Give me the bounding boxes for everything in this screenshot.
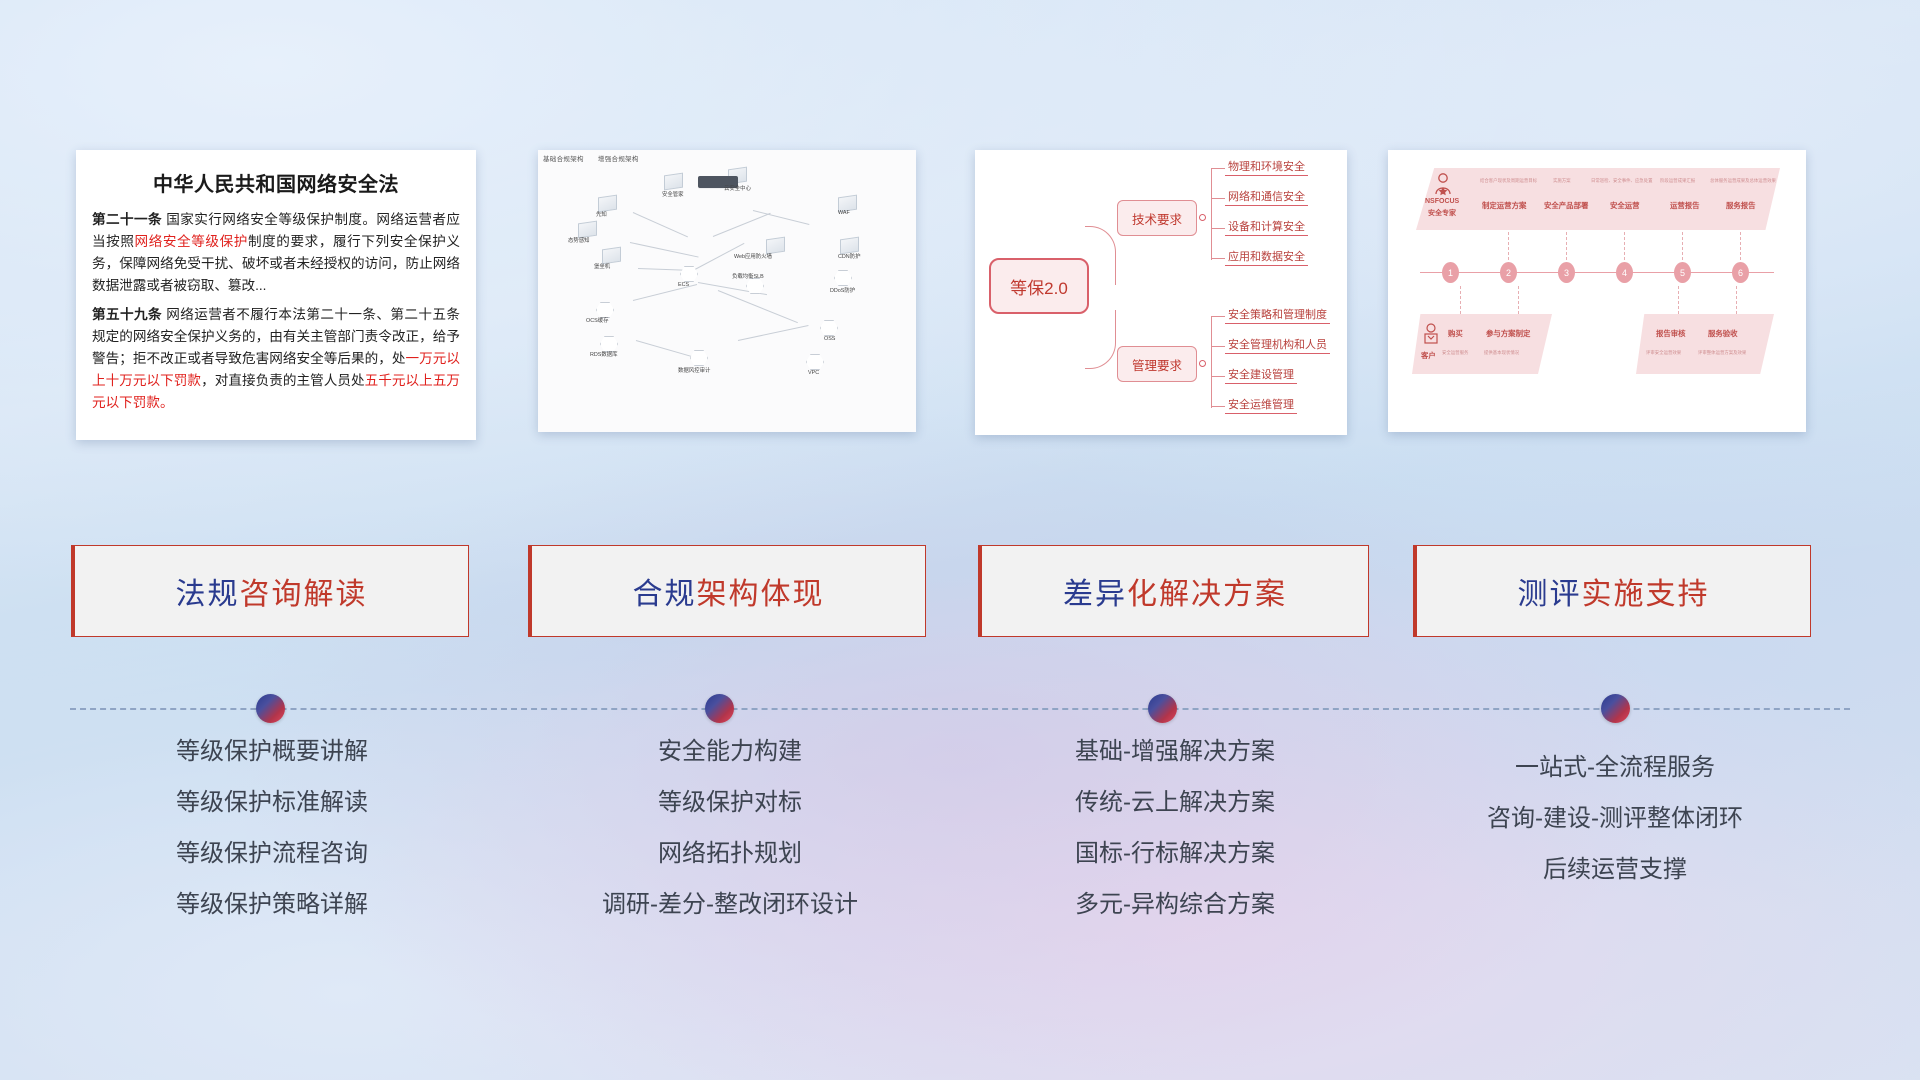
banner-label: 测评实施支持 <box>1518 569 1710 613</box>
mindmap-tick <box>1211 316 1225 317</box>
architecture-label: 云安全中心 <box>724 184 751 192</box>
banner-label-red: 化解决方案 <box>1127 578 1287 611</box>
mindmap-spine <box>1211 168 1212 260</box>
architecture-label: RDS数据库 <box>590 350 618 358</box>
list-item: 多元-异构综合方案 <box>965 893 1385 917</box>
architecture-label: ECS <box>678 282 689 288</box>
architecture-header-enhanced: 增强合规架构 <box>598 156 639 163</box>
mindmap-branch-management: 管理要求 <box>1117 346 1197 382</box>
mindmap-leaf: 网络和通信安全 <box>1225 188 1308 206</box>
timeline-top-sub: 结合客户现状及周期运营目标 <box>1480 178 1537 184</box>
list-item: 一站式-全流程服务 <box>1400 756 1830 780</box>
architecture-header-basic: 基础合规架构 <box>543 156 584 163</box>
architecture-icon-hex <box>806 354 824 370</box>
architecture-label: CDN防护 <box>838 252 860 260</box>
mindmap-leaf: 安全管理机构和人员 <box>1225 336 1330 354</box>
architecture-link <box>718 290 798 323</box>
timeline-step-number: 5 <box>1674 262 1691 283</box>
architecture-label: 数据风控审计 <box>678 366 710 374</box>
mindmap-tick <box>1211 376 1225 377</box>
architecture-label: Web应用防火墙 <box>734 252 772 260</box>
law-paragraph-1: 第二十一条 国家实行网络安全等级保护制度。网络运营者应当按照网络安全等级保护制度… <box>92 209 460 297</box>
timeline-dash <box>1624 232 1626 260</box>
list-item: 国标-行标解决方案 <box>965 842 1385 866</box>
list-item: 基础-增强解决方案 <box>965 740 1385 764</box>
list-item: 传统-云上解决方案 <box>965 791 1385 815</box>
law-title: 中华人民共和国网络安全法 <box>92 168 460 197</box>
banner-label: 法规咨询解读 <box>176 569 368 613</box>
timeline-step-number: 3 <box>1558 262 1575 283</box>
banner-label: 合规架构体现 <box>633 569 825 613</box>
timeline-top-title: 运营报告 <box>1670 200 1700 211</box>
list-item: 调研-差分-整改闭环设计 <box>520 893 940 917</box>
timeline-knob-1[interactable] <box>256 694 285 723</box>
banner-label: 差异化解决方案 <box>1063 569 1287 613</box>
timeline-top-title: 制定运营方案 <box>1482 200 1526 211</box>
mindmap-tick <box>1211 346 1225 347</box>
timeline-step-number: 4 <box>1616 262 1633 283</box>
banner-compliance-architecture[interactable]: 合规架构体现 <box>531 545 926 637</box>
timeline-step-number: 2 <box>1500 262 1517 283</box>
timeline-canvas: NSFOCUS 安全专家 结合客户现状及周期运营目标 制定运营方案 实施方案 安… <box>1388 150 1806 432</box>
customer-avatar-icon <box>1422 322 1440 348</box>
banner-label-red: 咨询解读 <box>240 578 368 611</box>
banner-label-blue: 差异 <box>1063 578 1127 611</box>
architecture-icon-hex <box>820 320 838 336</box>
banner-evaluation-support[interactable]: 测评实施支持 <box>1416 545 1811 637</box>
reference-cards-row: 中华人民共和国网络安全法 第二十一条 国家实行网络安全等级保护制度。网络运营者应… <box>0 150 1920 450</box>
mindmap-tick <box>1211 228 1225 229</box>
expert-avatar-icon <box>1432 172 1454 196</box>
architecture-label: DDoS防护 <box>830 286 855 294</box>
timeline-bottom-title: 服务验收 <box>1708 328 1738 339</box>
mindmap-leaf: 安全建设管理 <box>1225 366 1297 384</box>
mindmap-tick <box>1211 406 1225 407</box>
timeline-bottom-title: 购买 <box>1448 328 1463 339</box>
law-text-1b-highlight: 网络安全等级保护 <box>135 234 248 249</box>
card-mindmap[interactable]: 等保2.0 技术要求 管理要求 物理和环境安全 网络和通信安全 设备和计算安全 … <box>975 150 1347 435</box>
banner-row: 法规咨询解读 合规架构体现 差异化解决方案 测评实施支持 <box>0 545 1920 645</box>
list-item: 等级保护策略详解 <box>62 893 482 917</box>
list-item: 等级保护流程咨询 <box>62 842 482 866</box>
mindmap-connector <box>1085 310 1116 369</box>
banner-regulation-consulting[interactable]: 法规咨询解读 <box>74 545 469 637</box>
list-item: 咨询-建设-测评整体闭环 <box>1400 807 1830 831</box>
law-text-2c: ，对直接负责的主管人员处 <box>201 373 365 388</box>
banner-differentiated-solution[interactable]: 差异化解决方案 <box>981 545 1369 637</box>
timeline-dash <box>1566 232 1568 260</box>
law-body: 中华人民共和国网络安全法 第二十一条 国家实行网络安全等级保护制度。网络运营者应… <box>76 150 476 440</box>
process-timeline <box>0 694 1920 724</box>
timeline-top-sub: 阶段运营成果汇报 <box>1660 178 1695 184</box>
architecture-icon-box <box>664 173 683 191</box>
timeline-step-number: 6 <box>1732 262 1749 283</box>
architecture-label: 负载均衡SLB <box>732 272 764 280</box>
mindmap-tick <box>1211 258 1225 259</box>
timeline-dash <box>1740 232 1742 260</box>
mindmap-leaf: 物理和环境安全 <box>1225 158 1308 176</box>
timeline-top-sub: 实施方案 <box>1553 178 1571 184</box>
architecture-label: 先知 <box>596 210 607 218</box>
mindmap-leaf: 安全策略和管理制度 <box>1225 306 1330 324</box>
timeline-top-title: 服务报告 <box>1726 200 1756 211</box>
detail-column-4: 一站式-全流程服务 咨询-建设-测评整体闭环 后续运营支撑 <box>1400 756 1830 909</box>
architecture-link <box>633 212 688 237</box>
timeline-top-sub: 日常巡检、安全事件、应急处置 <box>1591 178 1652 184</box>
mindmap-leaf: 应用和数据安全 <box>1225 248 1308 266</box>
architecture-link <box>713 213 771 237</box>
timeline-top-title: 安全运营 <box>1610 200 1640 211</box>
list-item: 等级保护概要讲解 <box>62 740 482 764</box>
list-item: 等级保护对标 <box>520 791 940 815</box>
timeline-dash <box>1518 286 1520 314</box>
architecture-label: WAF <box>838 210 850 216</box>
law-article-label-1: 第二十一条 <box>92 212 162 227</box>
timeline-bottom-title: 参与方案制定 <box>1486 328 1530 339</box>
mindmap-root-node: 等保2.0 <box>989 258 1089 314</box>
law-article-label-2: 第五十九条 <box>92 307 162 322</box>
timeline-bottom-sub: 评审安全运营效果 <box>1646 350 1681 356</box>
architecture-link <box>753 210 810 225</box>
banner-label-blue: 合规 <box>633 578 697 611</box>
architecture-label: 堡垒机 <box>594 262 610 270</box>
detail-columns: 等级保护概要讲解 等级保护标准解读 等级保护流程咨询 等级保护策略详解 安全能力… <box>0 740 1920 990</box>
law-paragraph-2: 第五十九条 网络运营者不履行本法第二十一条、第二十五条规定的网络安全保护义务的，… <box>92 304 460 414</box>
timeline-dash <box>1678 286 1680 314</box>
mindmap-connector <box>1085 226 1116 285</box>
timeline-knob-4[interactable] <box>1601 694 1630 723</box>
architecture-label: OSS <box>824 336 835 342</box>
architecture-canvas: 基础合规架构 增强合规架构 <box>538 150 916 432</box>
mindmap-spine <box>1211 316 1212 408</box>
timeline-expert-label-line2: 安全专家 <box>1428 208 1456 218</box>
banner-label-blue: 法规 <box>176 578 240 611</box>
list-item: 后续运营支撑 <box>1400 858 1830 882</box>
timeline-customer-label: 客户 <box>1421 350 1436 361</box>
mindmap-branch-technical: 技术要求 <box>1117 200 1197 236</box>
timeline-dash <box>1682 232 1684 260</box>
timeline-step-number: 1 <box>1442 262 1459 283</box>
architecture-label: VPC <box>808 370 819 376</box>
timeline-bottom-sub: 评审整体运营方案及效果 <box>1698 350 1746 356</box>
timeline-knob-3[interactable] <box>1148 694 1177 723</box>
list-item: 网络拓扑规划 <box>520 842 940 866</box>
list-item: 等级保护标准解读 <box>62 791 482 815</box>
timeline-knob-2[interactable] <box>705 694 734 723</box>
mindmap-tick <box>1211 198 1225 199</box>
architecture-icon-hex <box>834 270 852 286</box>
card-law-document[interactable]: 中华人民共和国网络安全法 第二十一条 国家实行网络安全等级保护制度。网络运营者应… <box>76 150 476 440</box>
timeline-dash <box>1736 286 1738 314</box>
mindmap-leaf: 设备和计算安全 <box>1225 218 1308 236</box>
timeline-bottom-sub: 提供基本现状情况 <box>1484 350 1519 356</box>
banner-label-red: 架构体现 <box>697 578 825 611</box>
detail-column-2: 安全能力构建 等级保护对标 网络拓扑规划 调研-差分-整改闭环设计 <box>520 740 940 944</box>
architecture-label: 安全管家 <box>662 190 684 198</box>
mindmap-canvas: 等保2.0 技术要求 管理要求 物理和环境安全 网络和通信安全 设备和计算安全 … <box>975 150 1347 435</box>
detail-column-3: 基础-增强解决方案 传统-云上解决方案 国标-行标解决方案 多元-异构综合方案 <box>965 740 1385 944</box>
architecture-label: 态势感知 <box>568 236 590 244</box>
detail-column-1: 等级保护概要讲解 等级保护标准解读 等级保护流程咨询 等级保护策略详解 <box>62 740 482 944</box>
timeline-top-title: 安全产品部署 <box>1544 200 1588 211</box>
timeline-dashed-line <box>70 708 1850 710</box>
timeline-dash <box>1460 286 1462 314</box>
timeline-top-sub: 总体服务运营成果及总体运营效果 <box>1710 178 1776 184</box>
architecture-label: OCS缓存 <box>586 316 608 324</box>
timeline-bottom-sub: 安全运营服务 <box>1442 350 1468 356</box>
timeline-bottom-title: 报告审核 <box>1656 328 1686 339</box>
mindmap-tick <box>1211 168 1225 169</box>
timeline-bottom-band-right <box>1636 314 1774 374</box>
card-architecture-diagram[interactable]: 基础合规架构 增强合规架构 <box>538 150 916 432</box>
architecture-icon-hex <box>690 350 708 366</box>
banner-label-red: 实施支持 <box>1582 578 1710 611</box>
banner-label-blue: 测评 <box>1518 578 1582 611</box>
architecture-link <box>630 242 699 258</box>
mindmap-collapse-dot[interactable] <box>1199 214 1206 221</box>
timeline-dash <box>1508 232 1510 260</box>
timeline-axis <box>1420 272 1774 273</box>
architecture-header: 基础合规架构 增强合规架构 <box>543 153 651 163</box>
timeline-expert-label-line1: NSFOCUS <box>1425 198 1459 205</box>
list-item: 安全能力构建 <box>520 740 940 764</box>
architecture-link <box>738 325 809 341</box>
card-service-timeline[interactable]: NSFOCUS 安全专家 结合客户现状及周期运营目标 制定运营方案 实施方案 安… <box>1388 150 1806 432</box>
mindmap-collapse-dot[interactable] <box>1199 360 1206 367</box>
mindmap-leaf: 安全运维管理 <box>1225 396 1297 414</box>
